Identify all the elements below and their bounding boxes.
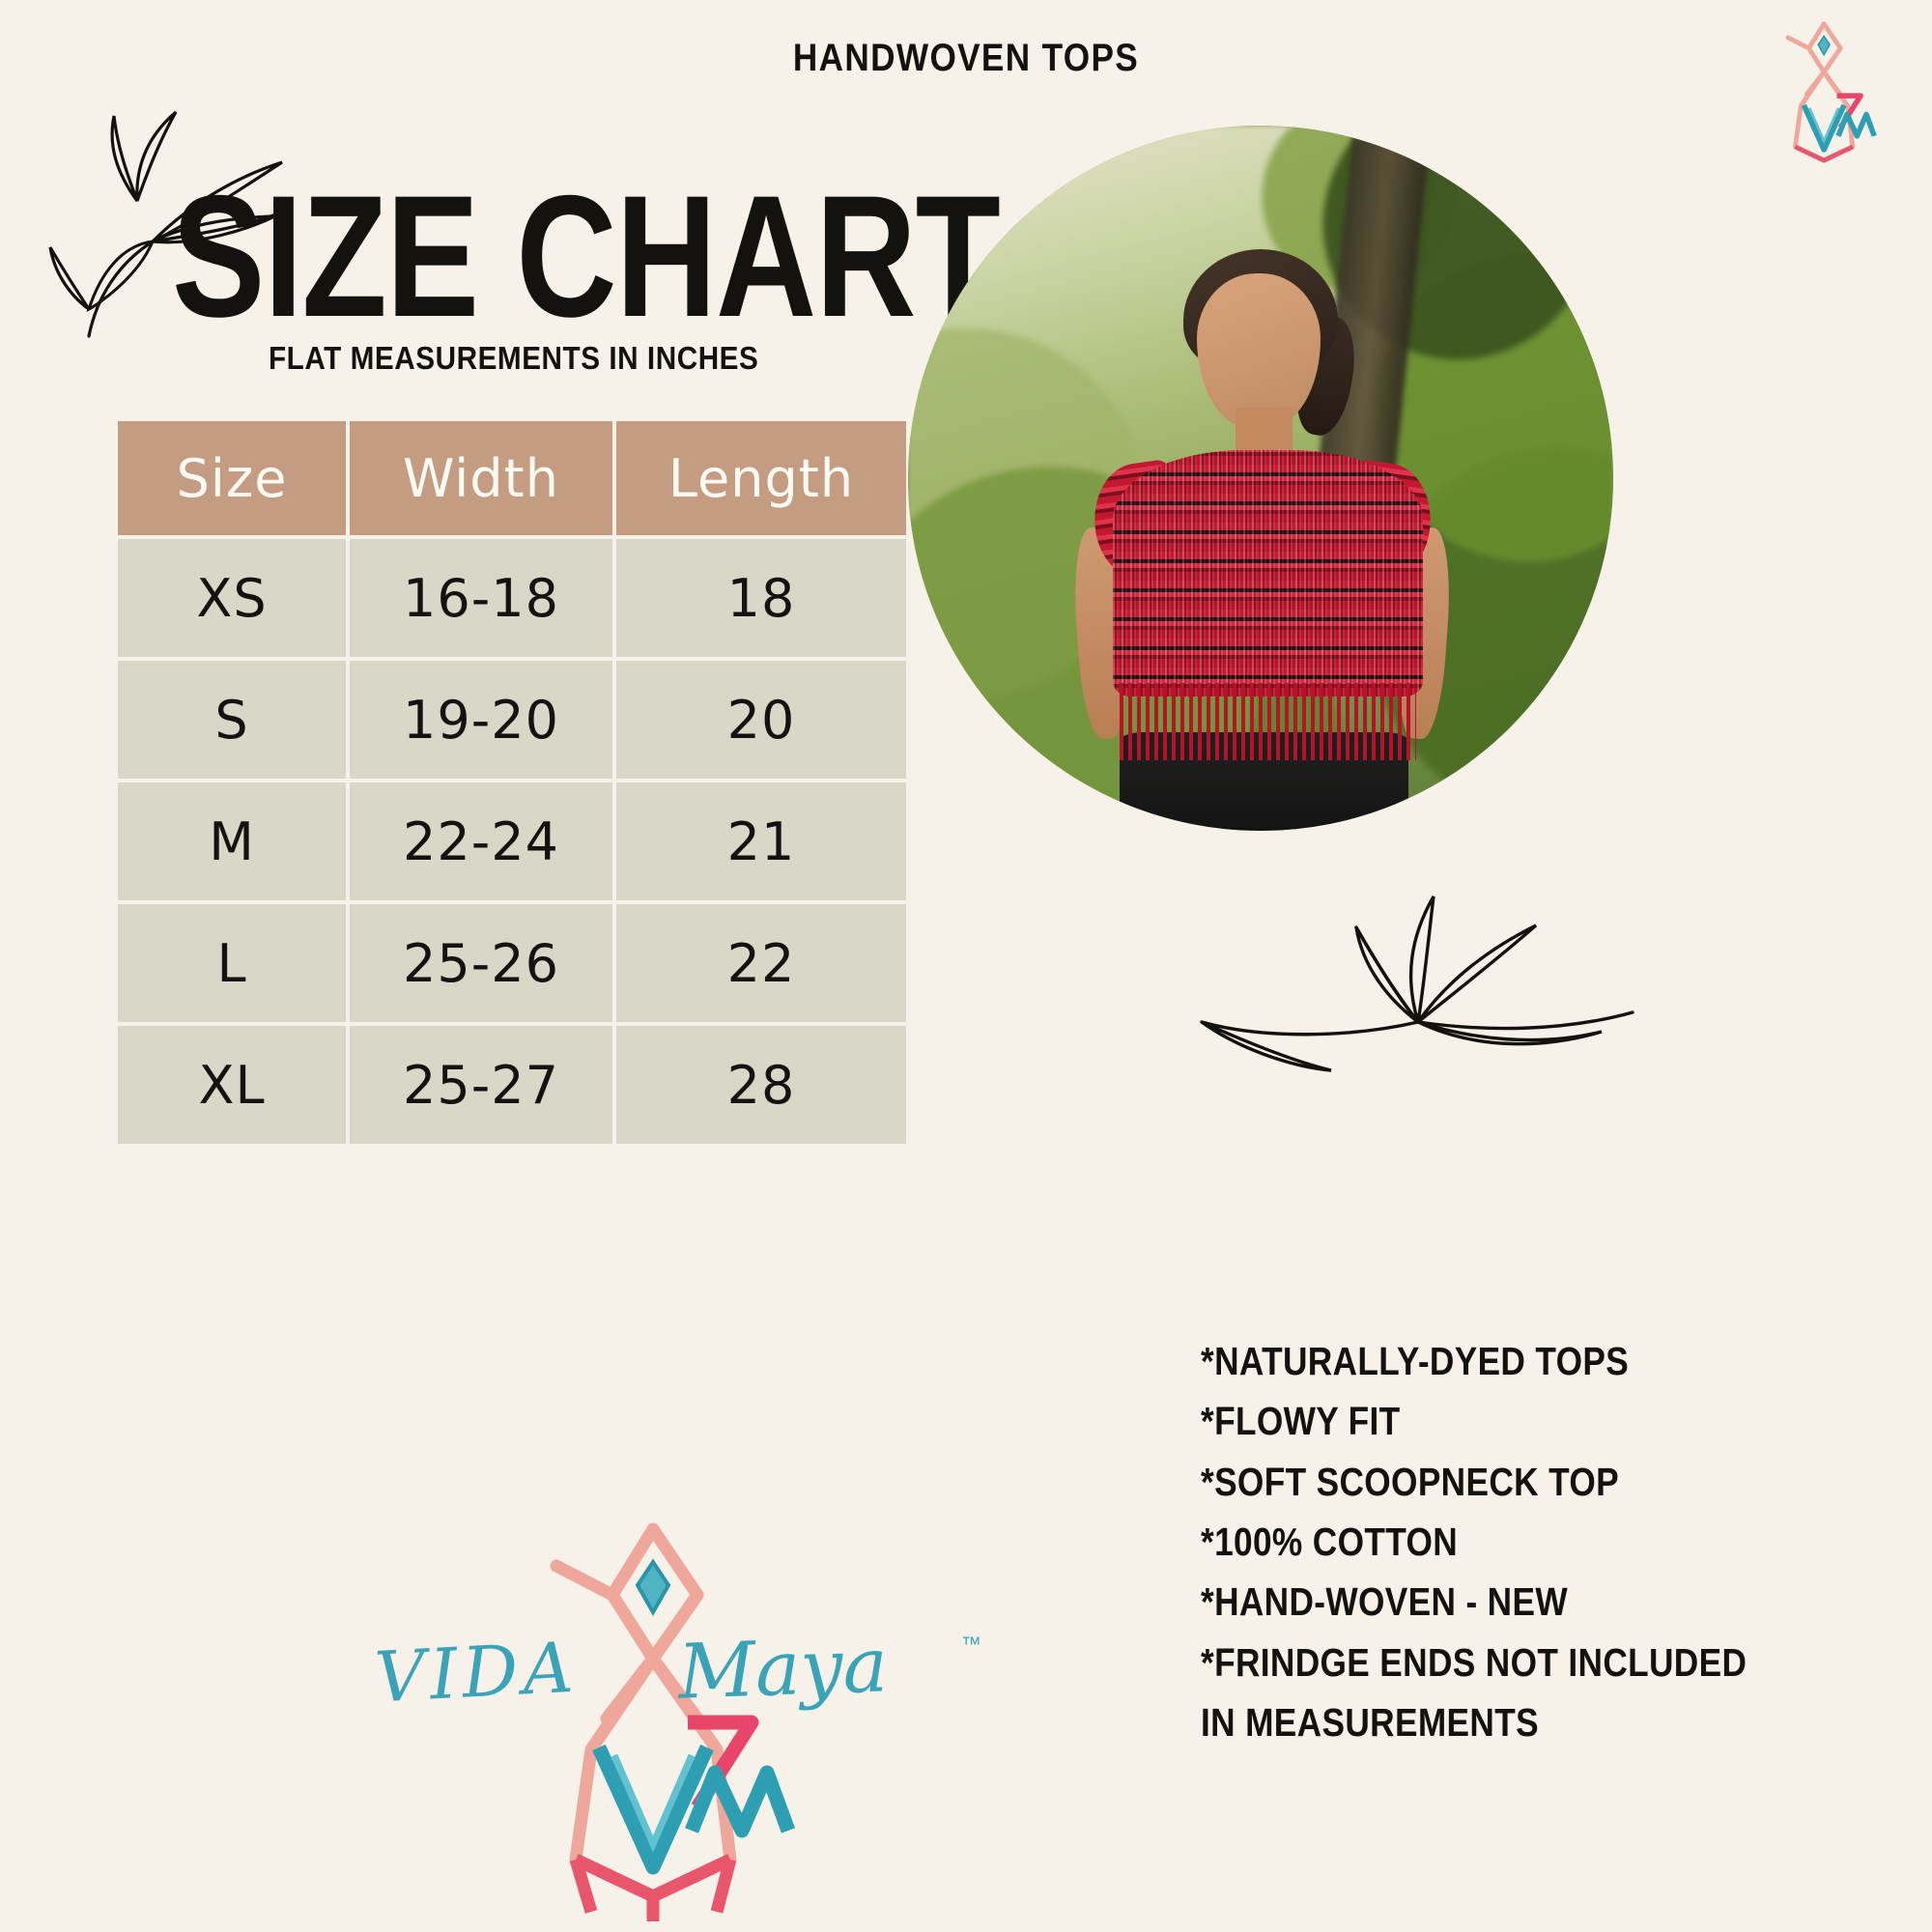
table-row: S 19-20 20 bbox=[118, 661, 906, 779]
cell-width: 25-27 bbox=[350, 1026, 612, 1144]
column-header-width: Width bbox=[350, 421, 612, 535]
cell-size: L bbox=[118, 904, 346, 1022]
column-header-size: Size bbox=[118, 421, 346, 535]
vida-maya-corner-mark-icon bbox=[1739, 17, 1913, 172]
page-subtitle: FLAT MEASUREMENTS IN INCHES bbox=[269, 340, 758, 377]
cell-length: 28 bbox=[616, 1026, 906, 1144]
list-item: *SOFT SCOOPNECK TOP bbox=[1201, 1452, 1782, 1512]
brand-wordmark: VIDA Maya ™ bbox=[319, 1626, 995, 1732]
cell-size: M bbox=[118, 782, 346, 900]
table-row: M 22-24 21 bbox=[118, 782, 906, 900]
brand-logo: VIDA Maya ™ bbox=[319, 1512, 995, 1927]
list-item: *HAND-WOVEN - NEW bbox=[1201, 1572, 1782, 1632]
product-photo bbox=[908, 126, 1613, 831]
garment-fringe bbox=[1120, 683, 1416, 760]
cell-size: XL bbox=[118, 1026, 346, 1144]
trademark-symbol: ™ bbox=[961, 1634, 981, 1657]
cell-length: 20 bbox=[616, 661, 906, 779]
size-chart-table: Size Width Length XS 16-18 18 S 19-20 20… bbox=[114, 417, 910, 1148]
cell-size: S bbox=[118, 661, 346, 779]
cell-width: 25-26 bbox=[350, 904, 612, 1022]
cell-width: 22-24 bbox=[350, 782, 612, 900]
cell-width: 16-18 bbox=[350, 539, 612, 657]
list-item: *100% COTTON bbox=[1201, 1512, 1782, 1572]
garment-handwoven-top bbox=[1113, 450, 1423, 697]
cell-length: 18 bbox=[616, 539, 906, 657]
leaf-sprig-bottom-right-icon bbox=[1196, 833, 1660, 1132]
list-item: *NATURALLY-DYED TOPS bbox=[1201, 1331, 1782, 1391]
cell-size: XS bbox=[118, 539, 346, 657]
table-row: XS 16-18 18 bbox=[118, 539, 906, 657]
table-row: XL 25-27 28 bbox=[118, 1026, 906, 1144]
list-item: *FLOWY FIT bbox=[1201, 1391, 1782, 1451]
table-row: L 25-26 22 bbox=[118, 904, 906, 1022]
model-face bbox=[1197, 273, 1321, 429]
brand-word-vida: VIDA bbox=[373, 1627, 580, 1719]
page-eyebrow-title: HANDWOVEN TOPS bbox=[116, 37, 1816, 80]
brand-word-maya: Maya bbox=[676, 1622, 889, 1717]
table-header-row: Size Width Length bbox=[118, 421, 906, 535]
product-feature-list: *NATURALLY-DYED TOPS *FLOWY FIT *SOFT SC… bbox=[1201, 1331, 1877, 1752]
cell-width: 19-20 bbox=[350, 661, 612, 779]
cell-length: 21 bbox=[616, 782, 906, 900]
list-item: *FRINDGE ENDS NOT INCLUDED IN MEASUREMEN… bbox=[1201, 1633, 1782, 1753]
page-title: SIZE CHART bbox=[172, 170, 1000, 343]
cell-length: 22 bbox=[616, 904, 906, 1022]
column-header-length: Length bbox=[616, 421, 906, 535]
